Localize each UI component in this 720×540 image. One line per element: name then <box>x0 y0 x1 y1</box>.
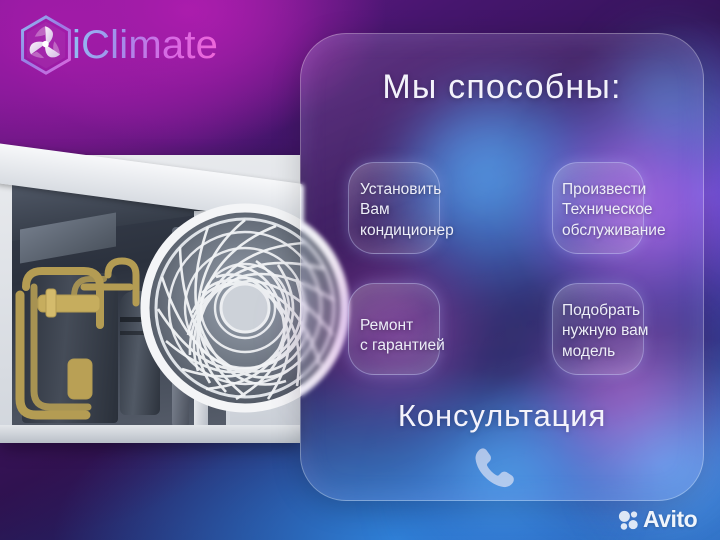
brand-name: iClimate <box>72 23 218 68</box>
service-card-label: Установить Вам кондиционер <box>360 180 530 241</box>
avito-dots-icon <box>618 509 640 531</box>
service-card-label: Ремонт с гарантией <box>360 316 530 357</box>
hexagon-fan-icon <box>16 14 76 76</box>
air-conditioner-image <box>0 139 310 445</box>
panel-title: Мы способны: <box>300 68 704 107</box>
consultation-heading: Консультация <box>300 398 704 434</box>
service-card-label: Подобрать нужную вам модель <box>562 301 720 362</box>
avito-watermark: Avito <box>618 506 697 533</box>
ac-base <box>0 425 300 443</box>
service-card-label: Произвести Техническое обслуживание <box>562 180 720 241</box>
phone-handset-icon[interactable] <box>470 444 518 492</box>
brand-logo: iClimate <box>16 14 218 76</box>
avito-label: Avito <box>643 506 697 533</box>
advertisement-banner: Мы способны: Установить Вам кондиционер … <box>0 0 720 540</box>
